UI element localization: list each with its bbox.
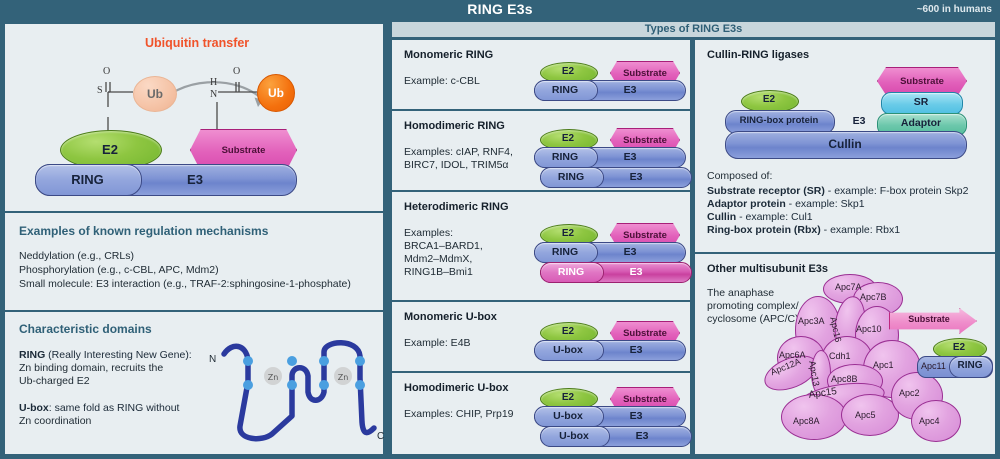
ubox-expansion: : same fold as RING without — [49, 402, 180, 414]
domain-label: U-box — [534, 410, 602, 422]
regulation-title: Examples of known regulation mechanisms — [19, 224, 268, 238]
n-terminus-label: N — [209, 353, 216, 366]
ubiquitin-transfer-panel: Ubiquitin transfer S O O H N Ub Ub — [5, 24, 383, 211]
e2-label: E2 — [540, 228, 596, 239]
cullin-component-2: Adaptor protein - example: Skp1 — [707, 198, 865, 210]
domain-label: U-box — [534, 344, 602, 356]
type-examples-line-2: BRCA1–BARD1, — [404, 240, 483, 253]
domain-label: RING — [534, 84, 596, 96]
component-term: Ring-box protein (Rbx) — [707, 224, 821, 236]
adaptor-label: Adaptor — [877, 117, 965, 129]
type-title: Homodimeric RING — [404, 120, 505, 132]
regulation-line-3: Small molecule: E3 interaction (e.g., TR… — [19, 278, 351, 291]
e3-label: E3 — [145, 172, 245, 187]
type-panel-monomeric-ring: Monomeric RING Example: c-CBL E2 Substra… — [392, 40, 690, 109]
e3-label-2: E3 — [606, 171, 666, 183]
type-title: Heterodimeric RING — [404, 201, 509, 213]
substrate-label: Substrate — [893, 314, 965, 324]
apc-subunit-label: Apc2 — [899, 388, 920, 398]
apc-subunit-label: Apc4 — [919, 416, 940, 426]
svg-text:Zn: Zn — [268, 373, 279, 382]
type-panel-heterodimeric-ring: Heterodimeric RING Examples: BRCA1–BARD1… — [392, 192, 690, 300]
characteristic-domains-title: Characteristic domains — [19, 322, 152, 336]
e3-label: E3 — [606, 344, 666, 356]
cullin-component-1: Substrate receptor (SR) - example: F-box… — [707, 185, 968, 197]
e2-label: E2 — [540, 133, 596, 144]
apc-subunit-label: Apc8A — [793, 416, 820, 426]
apc11-label: Apc11 — [921, 361, 946, 371]
component-desc: - example: Rbx1 — [821, 224, 900, 236]
apc-caption-line-1: The anaphase — [707, 287, 774, 300]
component-desc: - example: Cul1 — [736, 211, 812, 223]
domain-label-2: RING — [540, 266, 602, 278]
type-examples-line-4: RING1B–Bmi1 — [404, 266, 473, 279]
e2-label: E2 — [540, 392, 596, 403]
ring-definition: RING (Really Interesting New Gene): — [19, 349, 192, 362]
domain-label: RING — [534, 151, 596, 163]
component-term: Adaptor protein — [707, 198, 786, 210]
component-term: Cullin — [707, 211, 736, 223]
sr-label: SR — [881, 96, 961, 108]
substrate-label: Substrate — [878, 68, 966, 94]
diagram-root: RING E3s ~600 in humans Ubiquitin transf… — [0, 0, 1000, 459]
e3-label-2: E3 — [612, 430, 672, 442]
e3-label-2: E3 — [606, 266, 666, 278]
ubiquitin-donor: Ub — [133, 76, 177, 112]
type-examples-line: Examples: CHIP, Prp19 — [404, 408, 514, 421]
composed-of-label: Composed of: — [707, 170, 772, 183]
apc-subunit-label: Apc3A — [798, 316, 825, 326]
ubox-definition-line2: Zn coordination — [19, 415, 91, 428]
cullin-component-4: Ring-box protein (Rbx) - example: Rbx1 — [707, 224, 900, 236]
oxygen-atom-label-donor: O — [103, 66, 110, 77]
type-title: Monomeric U-box — [404, 311, 497, 323]
e2-label: E2 — [540, 66, 596, 77]
cullin-label: Cullin — [725, 137, 965, 151]
type-title: Homodimeric U-box — [404, 382, 509, 394]
ring-label: RING — [949, 360, 991, 371]
type-examples-line-2: BIRC7, IDOL, TRIM5α — [404, 159, 508, 172]
apc-subunit-label: Apc1 — [873, 360, 894, 370]
ring-box-protein-label: RING-box protein — [725, 115, 833, 126]
e2-label: E2 — [60, 142, 160, 157]
domain-label-2: RING — [540, 171, 602, 183]
type-panel-homodimeric-ubox: Homodimeric U-box Examples: CHIP, Prp19 … — [392, 373, 690, 454]
ring-definition-line2: Zn binding domain, recruits the — [19, 362, 163, 375]
type-panel-monomeric-ubox: Monomeric U-box Example: E4B E2 Substrat… — [392, 302, 690, 371]
cullin-ring-ligases-panel: Cullin-RING ligases Substrate SR Adaptor… — [695, 40, 995, 252]
domain-label-2: U-box — [540, 430, 608, 442]
domain-label: RING — [534, 246, 596, 258]
ubiquitin-acceptor: Ub — [257, 74, 295, 112]
apc-caption-line-3: cyclosome (APC/C) — [707, 313, 799, 326]
regulation-line-1: Neddylation (e.g., CRLs) — [19, 250, 134, 263]
type-title: Monomeric RING — [404, 49, 493, 61]
svg-text:Zn: Zn — [338, 373, 349, 382]
zinc-finger-icon: Zn Zn — [210, 330, 385, 450]
cullin-component-3: Cullin - example: Cul1 — [707, 211, 813, 223]
type-examples-line-1: Examples: cIAP, RNF4, — [404, 146, 513, 159]
types-section-header: Types of RING E3s — [392, 22, 995, 37]
substrate-shape: Substrate — [877, 67, 967, 95]
type-examples-line-1: Examples: — [404, 227, 453, 240]
ring-term: RING — [19, 349, 45, 361]
component-desc: - example: F-box protein Skp2 — [825, 185, 969, 197]
multisubunit-title: Other multisubunit E3s — [707, 263, 828, 275]
e3-label: E3 — [606, 410, 666, 422]
component-desc: - example: Skp1 — [786, 198, 865, 210]
e2-label: E2 — [540, 326, 596, 337]
header-bar: RING E3s ~600 in humans — [0, 0, 1000, 20]
e2-label: E2 — [933, 342, 985, 353]
apc-subunit-label: Apc7B — [860, 292, 887, 302]
e3-label: E3 — [600, 84, 660, 96]
c-terminus-label: C — [377, 430, 384, 443]
regulation-line-2: Phosphorylation (e.g., c-CBL, APC, Mdm2) — [19, 264, 219, 277]
e3-label: E3 — [600, 246, 660, 258]
cullin-title: Cullin-RING ligases — [707, 49, 809, 61]
e3-label: E3 — [841, 115, 877, 127]
e3-label: E3 — [600, 151, 660, 163]
page-title: RING E3s — [0, 1, 1000, 17]
hydrogen-atom-label: H — [210, 77, 217, 88]
regulation-mechanisms-panel: Examples of known regulation mechanisms … — [5, 213, 383, 310]
type-examples-line-3: Mdm2–MdmX, — [404, 253, 472, 266]
apc-subunit-label: Cdh1 — [829, 351, 851, 361]
apc-subunit-label: Apc10 — [856, 324, 882, 334]
type-examples-line: Example: E4B — [404, 337, 471, 350]
ring-label: RING — [35, 172, 140, 187]
oxygen-atom-label-acceptor: O — [233, 66, 240, 77]
ring-definition-line3: Ub-charged E2 — [19, 375, 90, 388]
e2-label: E2 — [741, 94, 797, 105]
apc-subunit-label: Apc7A — [835, 282, 862, 292]
ubox-definition: U-box: same fold as RING without — [19, 402, 179, 415]
apc-subunit-label: Apc8B — [831, 374, 858, 384]
apc-subunit-label: Apc5 — [855, 410, 876, 420]
type-panel-homodimeric-ring: Homodimeric RING Examples: cIAP, RNF4, B… — [392, 111, 690, 190]
type-examples-line: Example: c-CBL — [404, 75, 480, 88]
component-term: Substrate receptor (SR) — [707, 185, 825, 197]
human-count-badge: ~600 in humans — [917, 4, 992, 15]
ring-expansion: (Really Interesting New Gene): — [45, 349, 191, 361]
sulfur-atom-label: S — [97, 85, 103, 96]
nitrogen-atom-label: N — [210, 89, 217, 100]
apc-caption-line-2: promoting complex/ — [707, 300, 799, 313]
ubox-term: U-box — [19, 402, 49, 414]
multisubunit-e3s-panel: Other multisubunit E3s The anaphase prom… — [695, 254, 995, 454]
characteristic-domains-panel: Characteristic domains RING (Really Inte… — [5, 312, 383, 454]
